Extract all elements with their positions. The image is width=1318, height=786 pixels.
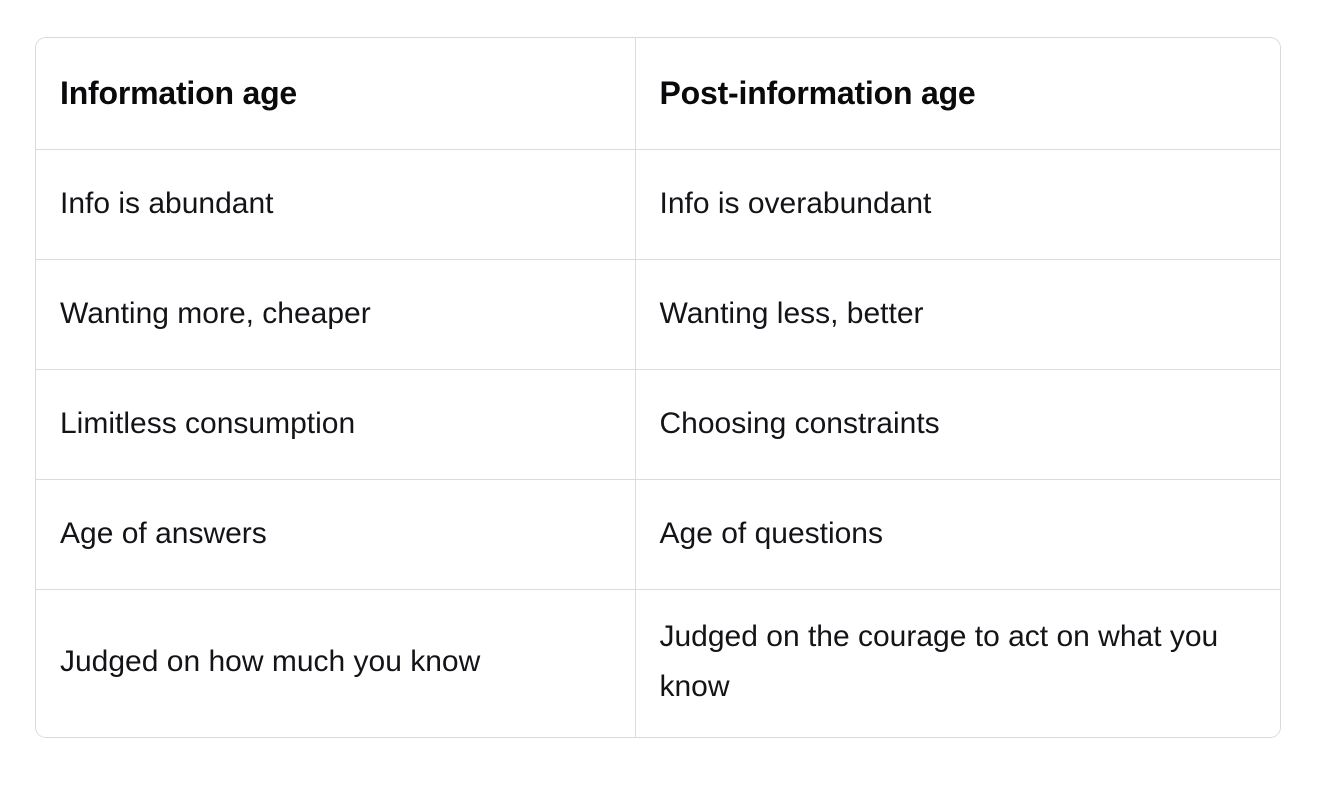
cell-text: Choosing constraints — [660, 399, 1257, 449]
comparison-table-container: Information age Post-information age Inf… — [35, 37, 1281, 738]
cell-text: Age of questions — [660, 509, 1257, 559]
table-header-row: Information age Post-information age — [36, 38, 1280, 149]
cell-post-information-age: Info is overabundant — [635, 149, 1280, 259]
table-row: Wanting more, cheaper Wanting less, bett… — [36, 259, 1280, 369]
cell-information-age: Info is abundant — [36, 149, 635, 259]
table-row: Age of answers Age of questions — [36, 479, 1280, 589]
cell-text: Judged on the courage to act on what you… — [660, 612, 1257, 712]
table-header: Information age Post-information age — [36, 38, 1280, 149]
cell-post-information-age: Judged on the courage to act on what you… — [635, 589, 1280, 737]
comparison-table: Information age Post-information age Inf… — [36, 38, 1280, 737]
cell-text: Info is overabundant — [660, 179, 1257, 229]
cell-text: Age of answers — [60, 509, 611, 559]
cell-post-information-age: Wanting less, better — [635, 259, 1280, 369]
table-row: Info is abundant Info is overabundant — [36, 149, 1280, 259]
cell-post-information-age: Choosing constraints — [635, 369, 1280, 479]
cell-post-information-age: Age of questions — [635, 479, 1280, 589]
cell-information-age: Limitless consumption — [36, 369, 635, 479]
cell-text: Wanting less, better — [660, 289, 1257, 339]
column-header-post-information-age: Post-information age — [635, 38, 1280, 149]
page-root: Information age Post-information age Inf… — [0, 0, 1318, 786]
cell-text: Wanting more, cheaper — [60, 289, 611, 339]
cell-information-age: Age of answers — [36, 479, 635, 589]
table-body: Info is abundant Info is overabundant Wa… — [36, 149, 1280, 737]
cell-text: Judged on how much you know — [60, 637, 611, 687]
cell-information-age: Wanting more, cheaper — [36, 259, 635, 369]
column-header-information-age: Information age — [36, 38, 635, 149]
table-row: Judged on how much you know Judged on th… — [36, 589, 1280, 737]
cell-information-age: Judged on how much you know — [36, 589, 635, 737]
cell-text: Info is abundant — [60, 179, 611, 229]
table-row: Limitless consumption Choosing constrain… — [36, 369, 1280, 479]
cell-text: Limitless consumption — [60, 399, 611, 449]
